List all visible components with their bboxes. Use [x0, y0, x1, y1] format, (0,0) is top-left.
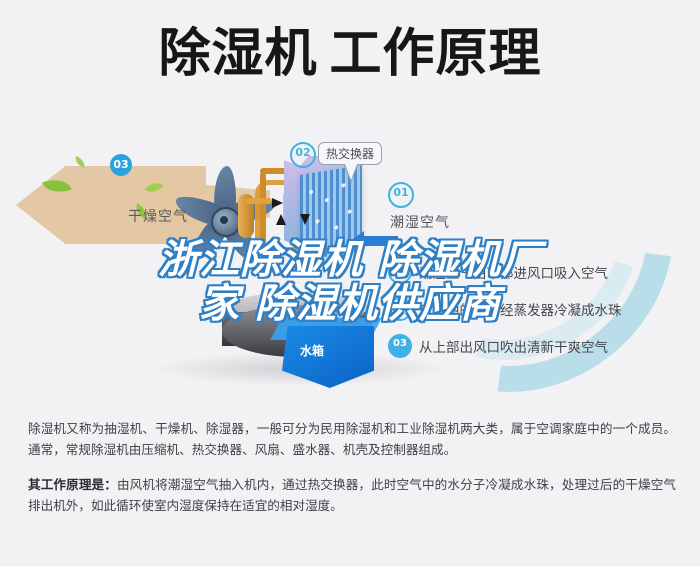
badge-01: 01	[388, 182, 414, 208]
water-tank-label: 水箱	[300, 342, 324, 359]
legend-badge-03: 03	[388, 334, 412, 358]
badge-03: 03	[110, 154, 132, 176]
badge-02: 02	[290, 142, 316, 168]
paragraph-2: 其工作原理是：由风机将潮湿空气抽入机内，通过热交换器，此时空气中的水分子冷凝成水…	[28, 474, 676, 516]
caption-dry-air: 干燥空气	[128, 206, 188, 226]
legend-badge-01: 01	[388, 260, 412, 284]
legend-text-01: 潮湿空气由下部进风口吸入空气	[419, 262, 608, 282]
legend-item: 03 从上部出风口吹出清新干爽空气	[388, 334, 688, 358]
page-title-part2: 工作原理	[330, 24, 542, 84]
copper-pipe-icon	[260, 172, 266, 248]
copper-pipe-icon	[246, 198, 272, 204]
legend-text-02: 空气中的水分经蒸发器冷凝成水珠	[419, 299, 622, 319]
paragraph-2-lead: 其工作原理是：	[28, 477, 117, 492]
heat-exchanger-callout: 热交换器	[318, 142, 382, 165]
caption-humid-air: 潮湿空气	[390, 212, 450, 232]
water-spout-icon	[330, 290, 366, 319]
paragraph-2-text: 由风机将潮湿空气抽入机内，通过热交换器，此时空气中的水分子冷凝成水珠，处理过后的…	[28, 477, 676, 513]
intake-arrow-icon	[364, 236, 398, 246]
paragraph-1: 除湿机又称为抽湿机、干燥机、除湿器，一般可分为民用除湿机和工业除湿机两大类，属于…	[28, 418, 676, 460]
flow-arrow-right-icon	[272, 198, 283, 208]
legend-item: 02 空气中的水分经蒸发器冷凝成水珠	[388, 297, 688, 321]
article-body: 除湿机又称为抽湿机、干燥机、除湿器，一般可分为民用除湿机和工业除湿机两大类，属于…	[28, 418, 676, 530]
flow-arrow-up-icon	[276, 214, 286, 225]
page-title: 除湿机工作原理	[0, 26, 700, 82]
dehumidifier-diagram: 水箱 03 02 01 热交换器 干燥空气 潮湿空气 01 潮湿空气由下部进风口…	[0, 120, 700, 405]
page-title-part1: 除湿机	[158, 24, 317, 84]
legend-list: 01 潮湿空气由下部进风口吸入空气 02 空气中的水分经蒸发器冷凝成水珠 03 …	[388, 260, 688, 371]
legend-item: 01 潮湿空气由下部进风口吸入空气	[388, 260, 688, 284]
legend-badge-02: 02	[388, 297, 412, 321]
flow-arrow-down-icon	[300, 214, 310, 225]
infographic-page: 除湿机工作原理	[0, 0, 700, 566]
legend-text-03: 从上部出风口吹出清新干爽空气	[419, 336, 608, 356]
